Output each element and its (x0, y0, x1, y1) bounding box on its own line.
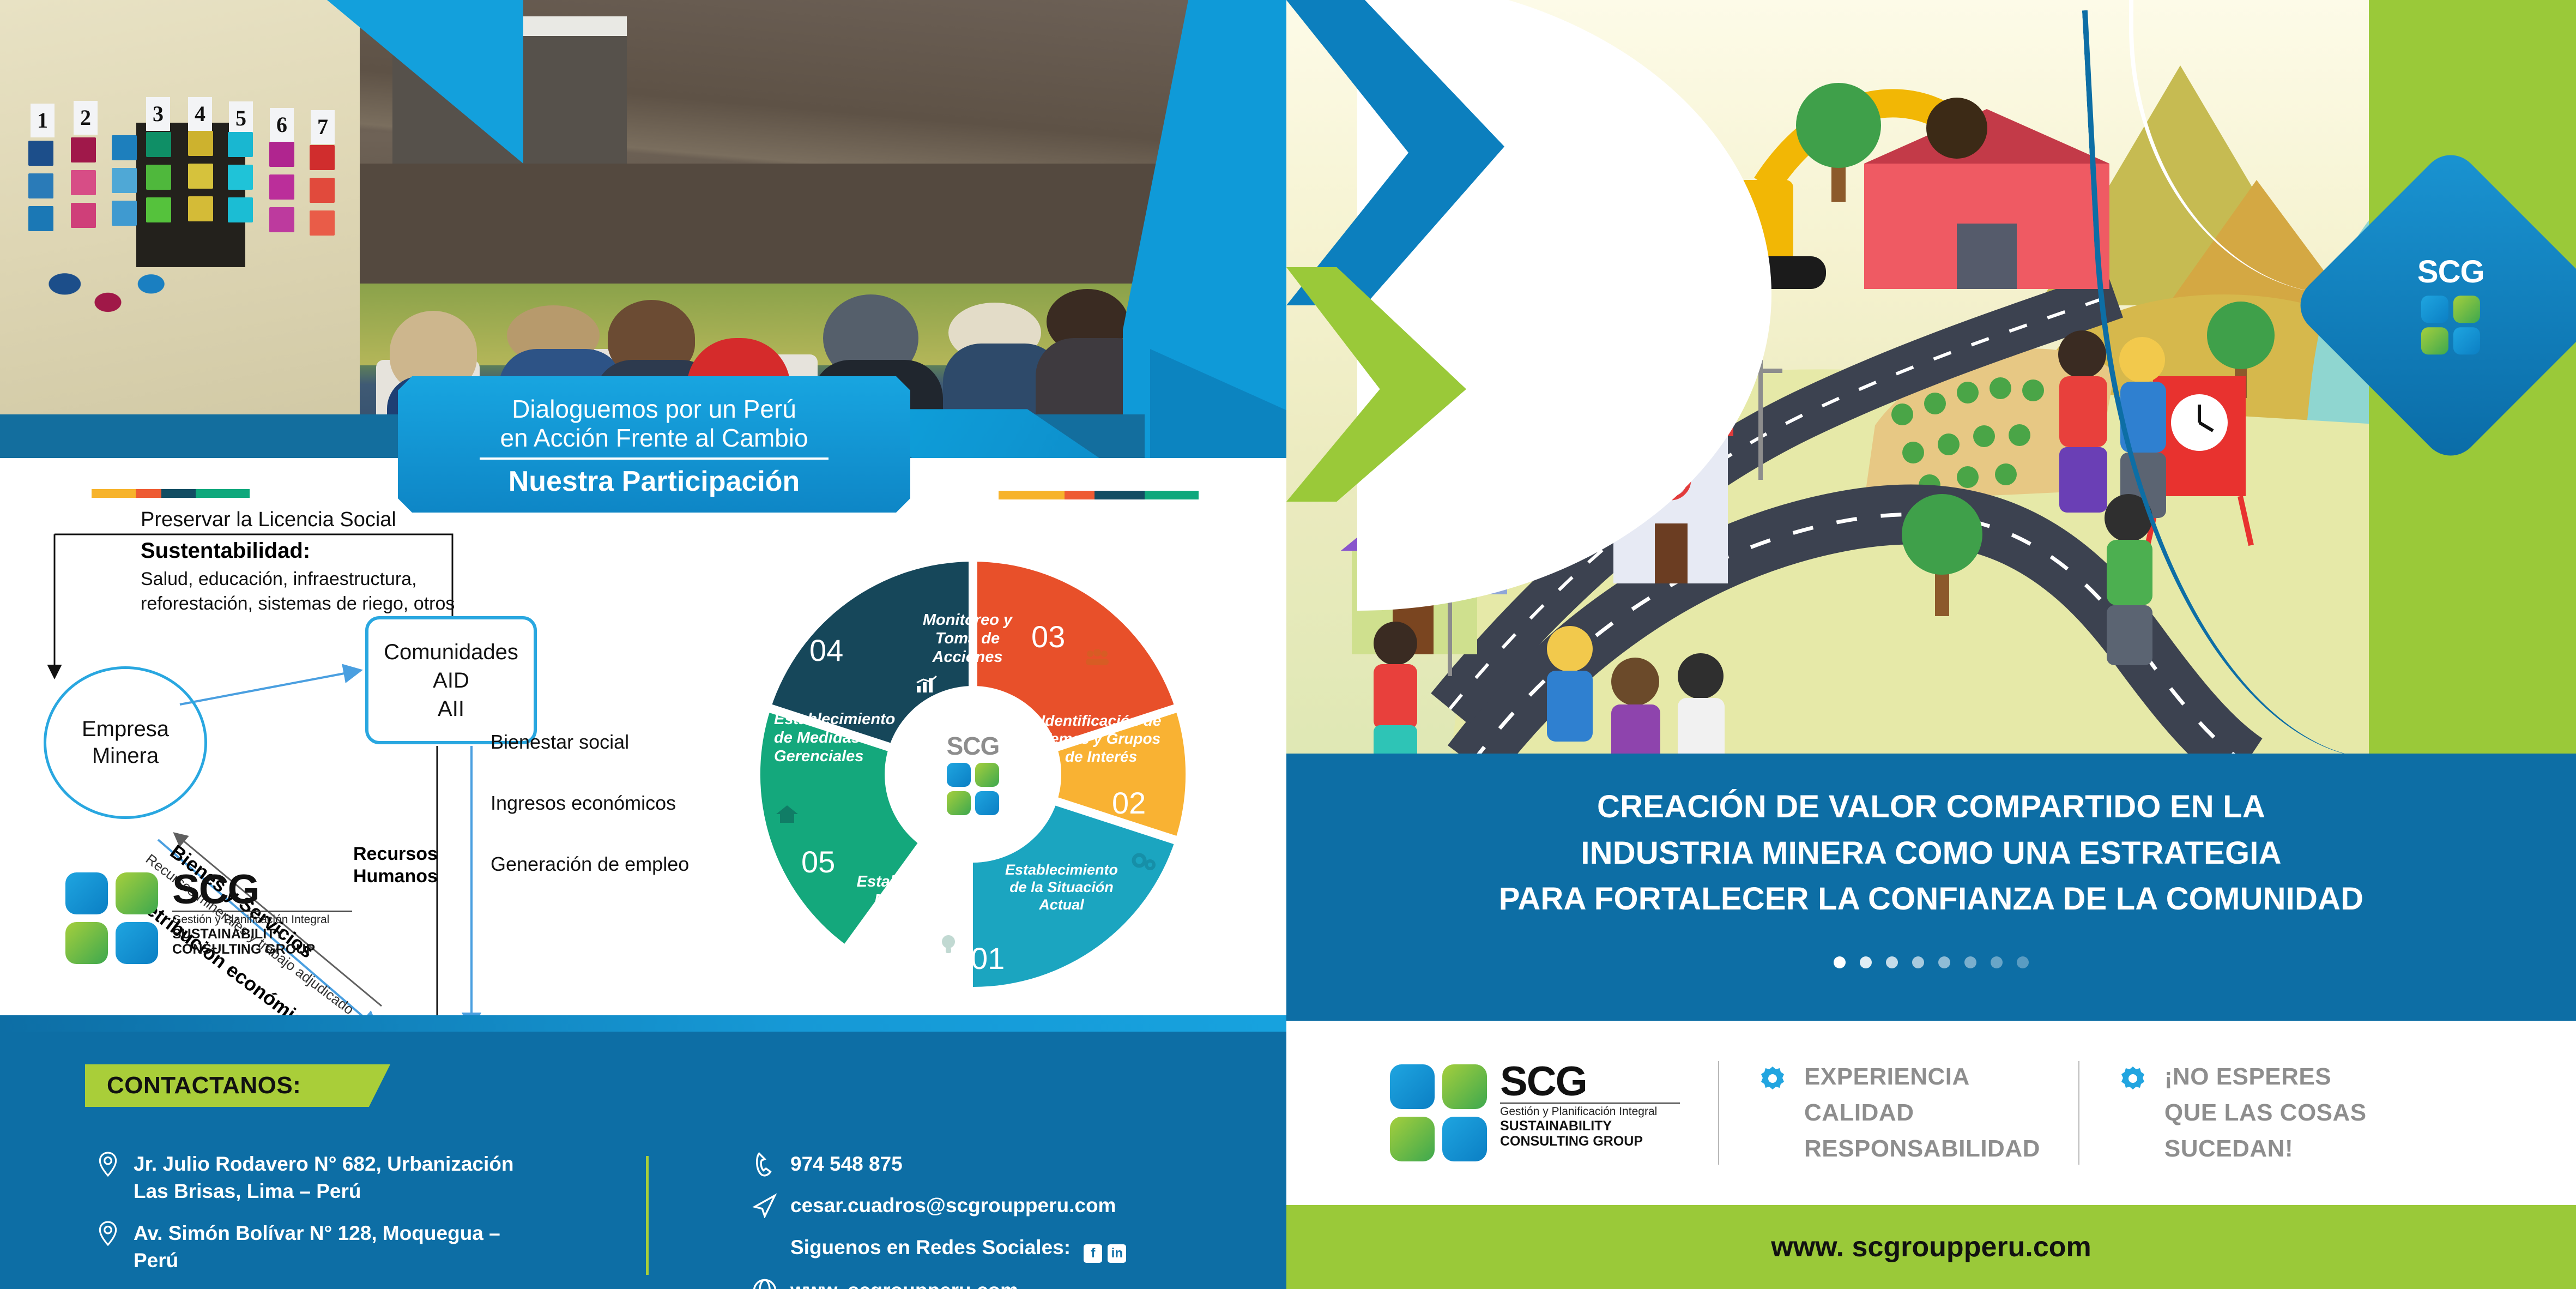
value-1: EXPERIENCIA (1804, 1059, 2040, 1095)
cta-line-2: QUE LAS COSAS (2164, 1095, 2367, 1131)
accent-bar-left (92, 489, 250, 498)
banner-line-1: CREACIÓN DE VALOR COMPARTIDO EN LA (1286, 784, 2576, 830)
scg-name-line2: CONSULTING GROUP (172, 942, 352, 957)
node-empresa-minera[interactable]: Empresa Minera (44, 666, 207, 819)
slice-label-03: Monitoreo y Toma de Acciones (902, 611, 1033, 667)
lightbulb-icon (940, 933, 957, 955)
benefit-ingresos-economicos: Ingresos económicos (491, 792, 676, 815)
dot-7[interactable] (1991, 956, 2003, 968)
caption-line-3: Nuestra Participación (398, 465, 910, 498)
card-number-5: 5 (229, 101, 253, 135)
accent-bar-right (999, 491, 1199, 499)
photo-numbered-cards: 1 2 3 4 5 6 7 (0, 0, 360, 458)
brochure-page: 1 2 3 4 5 6 7 (0, 0, 2576, 1289)
slice-number-04: 04 (809, 633, 843, 668)
left-panel: 1 2 3 4 5 6 7 (0, 0, 1286, 1289)
scg-logo-mark (65, 872, 158, 964)
website-row[interactable]: www. scgroupperu.com (752, 1277, 1243, 1289)
website-bar[interactable]: www. scgroupperu.com (1286, 1205, 2576, 1289)
sustainability-heading: Sustentabilidad: (141, 539, 310, 563)
benefit-generacion-empleo: Generación de empleo (491, 853, 689, 876)
gear-icon (1757, 1063, 1788, 1094)
scg-logo-mark (947, 763, 999, 815)
cta-line-1: ¡NO ESPERES (2164, 1059, 2367, 1095)
scg-tagline: Gestión y Planificación Integral (172, 913, 352, 926)
address-row-1: Jr. Julio Rodavero N° 682, Urbanización … (95, 1151, 548, 1206)
node-comunidades-line1: Comunidades (384, 638, 518, 666)
scg-logo-right: SCG Gestión y Planificación Integral SUS… (1390, 1064, 1680, 1161)
slice-label-01: Establecimiento de la Situación Actual (995, 862, 1128, 914)
slice-label-02: Identificación de Temas y Grupos de Inte… (1038, 712, 1164, 766)
slice-number-02: 02 (1112, 785, 1146, 821)
page-indicator-dots[interactable] (1286, 956, 2576, 968)
card-number-1: 1 (31, 104, 55, 137)
process-donut-chart: SCG Establecimiento de la Situación Actu… (749, 556, 1196, 992)
donut-center-logo: SCG (916, 717, 1030, 832)
card-number-2: 2 (74, 101, 98, 135)
caption-line-1: Dialoguemos por un Perú (398, 395, 910, 424)
people-icon (1085, 649, 1110, 666)
card-number-4: 4 (188, 97, 212, 131)
card-number-3: 3 (146, 97, 170, 131)
slice-number-01: 01 (971, 941, 1005, 976)
value-3: RESPONSABILIDAD (1804, 1131, 2040, 1167)
phone-row[interactable]: 974 548 875 (752, 1151, 1243, 1178)
value-2: CALIDAD (1804, 1095, 2040, 1131)
dot-5[interactable] (1938, 956, 1950, 968)
phone-number: 974 548 875 (790, 1151, 903, 1178)
social-spacer (752, 1235, 777, 1260)
scg-acronym: SCG (1500, 1064, 1680, 1099)
card-number-6: 6 (270, 108, 294, 142)
diamond-acronym: SCG (2417, 256, 2484, 288)
scg-tagline: Gestión y Planificación Integral (1500, 1105, 1680, 1118)
footer-divider-1 (1718, 1061, 1719, 1165)
contact-details: 974 548 875 cesar.cuadros@scgroupperu.co… (752, 1151, 1243, 1289)
caption-divider (480, 457, 828, 460)
banner-line-3: PARA FORTALECER LA CONFIANZA DE LA COMUN… (1286, 876, 2576, 923)
dot-4[interactable] (1912, 956, 1924, 968)
address-1: Jr. Julio Rodavero N° 682, Urbanización … (134, 1151, 548, 1206)
caption-line-2: en Acción Frente al Cambio (398, 424, 910, 453)
linkedin-icon[interactable]: in (1108, 1244, 1126, 1263)
sustainability-body: Salud, educación, infraestructura, refor… (141, 567, 468, 616)
home-icon (776, 804, 799, 824)
location-pin-icon (95, 1221, 120, 1246)
factory-door (1957, 224, 2017, 289)
address-row-2: Av. Simón Bolívar N° 128, Moquegua – Per… (95, 1220, 548, 1275)
footer-website-url: www. scgroupperu.com (1771, 1231, 2091, 1263)
right-panel: SCG CREACIÓN DE VALOR COMPARTIDO EN LA I… (1286, 0, 2576, 1289)
node-empresa-minera-line2: Minera (92, 743, 159, 769)
phone-icon (752, 1152, 777, 1177)
email-address: cesar.cuadros@scgroupperu.com (790, 1192, 1116, 1219)
clinic-door (1655, 523, 1688, 583)
social-label-wrap: Siguenos en Redes Sociales: f in (790, 1234, 1126, 1263)
scg-logo-wordmark: SCG Gestión y Planificación Integral SUS… (172, 872, 352, 957)
footer-divider-2 (2078, 1061, 2079, 1165)
scg-acronym: SCG (172, 872, 352, 907)
slice-label-05: Establecer Metas (842, 872, 951, 909)
label-recursos-humanos: Recursos Humanos (353, 843, 438, 888)
contact-addresses: Jr. Julio Rodavero N° 682, Urbanización … (95, 1151, 548, 1288)
dot-2[interactable] (1860, 956, 1872, 968)
gears-icon (1131, 851, 1157, 872)
scg-name-line1: SUSTAINABILITY (172, 926, 352, 942)
call-to-action-block: ¡NO ESPERES QUE LAS COSAS SUCEDAN! (2118, 1059, 2367, 1167)
label-recursos-humanos-line1: Recursos (353, 843, 438, 865)
call-to-action-list: ¡NO ESPERES QUE LAS COSAS SUCEDAN! (2164, 1059, 2367, 1167)
dot-6[interactable] (1964, 956, 1976, 968)
right-footer: SCG Gestión y Planificación Integral SUS… (1286, 1021, 2576, 1205)
node-comunidades-line2: AID (433, 666, 469, 695)
diagram-title: Preservar la Licencia Social (141, 508, 396, 532)
title-banner: CREACIÓN DE VALOR COMPARTIDO EN LA INDUS… (1286, 754, 2576, 1021)
contact-divider (646, 1156, 649, 1275)
community-illustration: SCG (1286, 0, 2576, 763)
node-comunidades[interactable]: Comunidades AID AII (365, 616, 537, 744)
banner-line-2: INDUSTRIA MINERA COMO UNA ESTRATEGIA (1286, 830, 2576, 877)
node-empresa-minera-line1: Empresa (82, 716, 169, 743)
values-list: EXPERIENCIA CALIDAD RESPONSABILIDAD (1804, 1059, 2040, 1167)
facebook-icon[interactable]: f (1084, 1244, 1102, 1263)
gear-icon (2118, 1063, 2148, 1094)
address-2: Av. Simón Bolívar N° 128, Moquegua – Per… (134, 1220, 548, 1275)
social-icons[interactable]: f in (1084, 1244, 1126, 1263)
node-comunidades-line3: AII (438, 695, 464, 723)
photo-caption-block: Dialoguemos por un Perú en Acción Frente… (398, 376, 910, 513)
scg-logo-mark (1390, 1064, 1487, 1161)
scg-logo-wordmark: SCG Gestión y Planificación Integral SUS… (1500, 1064, 1680, 1149)
values-block: EXPERIENCIA CALIDAD RESPONSABILIDAD (1757, 1059, 2040, 1167)
website-url: www. scgroupperu.com (790, 1277, 1018, 1289)
donut-center-acronym: SCG (947, 733, 1000, 758)
scg-logo-left: SCG Gestión y Planificación Integral SUS… (65, 872, 352, 964)
dot-3[interactable] (1886, 956, 1898, 968)
bar-chart-icon (916, 675, 938, 694)
cta-line-3: SUCEDAN! (2164, 1131, 2367, 1167)
email-row[interactable]: cesar.cuadros@scgroupperu.com (752, 1192, 1243, 1219)
globe-icon (752, 1278, 777, 1289)
social-row[interactable]: Siguenos en Redes Sociales: f in (752, 1234, 1243, 1263)
scg-logo-mark (2421, 296, 2480, 354)
send-icon (752, 1193, 777, 1218)
contact-footer: CONTACTANOS: Jr. Julio Rodavero N° 682, … (0, 1015, 1286, 1289)
scg-name-line1: SUSTAINABILITY (1500, 1118, 1680, 1134)
label-recursos-humanos-line2: Humanos (353, 865, 438, 888)
slice-label-04: Establecimiento de Medidas Gerenciales (774, 710, 910, 766)
benefit-bienestar-social: Bienestar social (491, 731, 629, 754)
card-number-7: 7 (311, 110, 335, 144)
contact-tag-label: CONTACTANOS: (107, 1072, 301, 1099)
social-label: Siguenos en Redes Sociales: (790, 1236, 1071, 1258)
dot-8[interactable] (2017, 956, 2029, 968)
slice-number-05: 05 (801, 844, 835, 880)
slice-number-03: 03 (1031, 619, 1065, 654)
scg-name-line2: CONSULTING GROUP (1500, 1134, 1680, 1149)
dot-1[interactable] (1834, 956, 1846, 968)
contact-tag: CONTACTANOS: (85, 1064, 390, 1107)
location-pin-icon (95, 1152, 120, 1177)
